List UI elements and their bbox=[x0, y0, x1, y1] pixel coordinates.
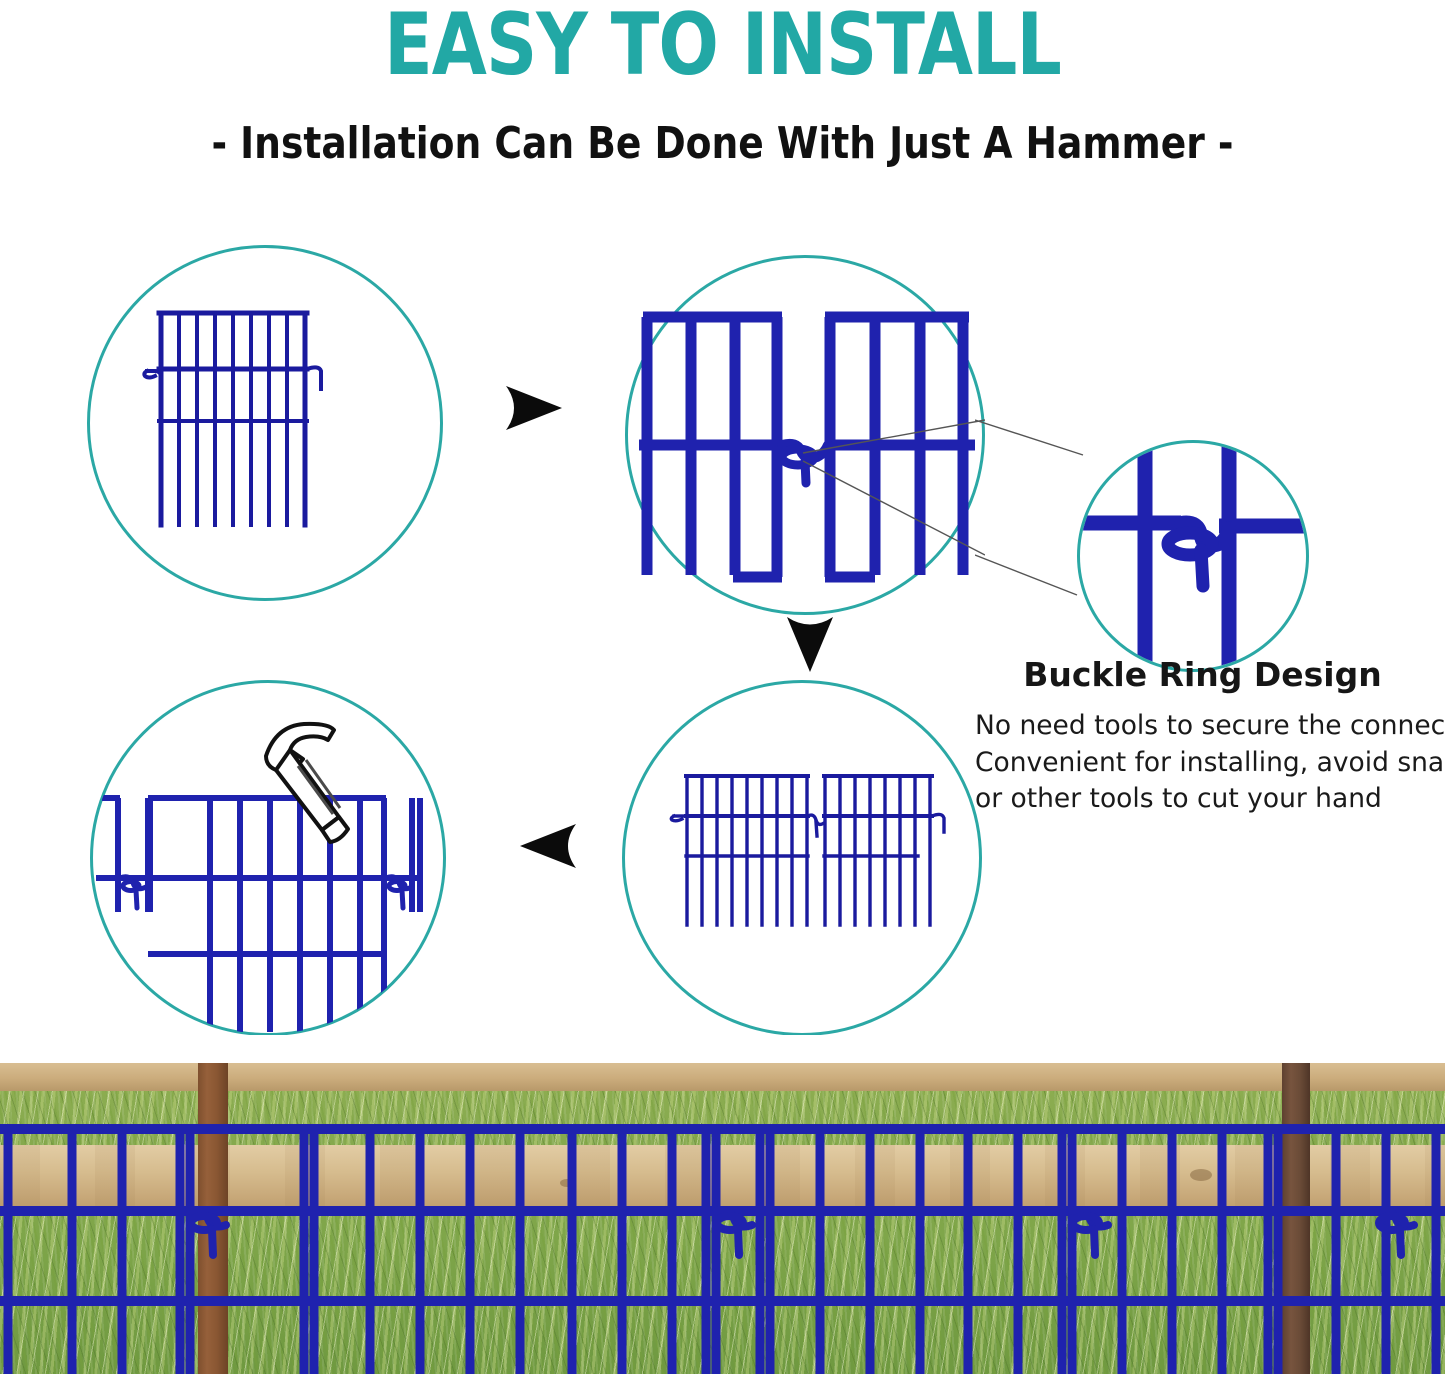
buckle-ring-joint-1 bbox=[190, 1210, 226, 1255]
step-5-circle bbox=[90, 680, 446, 1036]
buckle-ring-joint-3 bbox=[1072, 1210, 1108, 1255]
page-title: EASY TO INSTALL bbox=[58, 2, 1387, 88]
installed-fence-photo bbox=[0, 1063, 1445, 1374]
arrow-left-icon bbox=[512, 818, 582, 874]
feature-line-1: No need tools to secure the connection bbox=[975, 708, 1445, 745]
feature-line-2: Convenient for installing, avoid snaps bbox=[975, 745, 1445, 782]
photo-top-gap bbox=[0, 1035, 1445, 1063]
arrow-down-icon bbox=[782, 612, 842, 678]
feature-title: Buckle Ring Design bbox=[960, 655, 1445, 694]
blue-fence-overlay bbox=[0, 1063, 1445, 1374]
step-2-circle bbox=[625, 255, 985, 615]
page-subtitle: - Installation Can Be Done With Just A H… bbox=[36, 122, 1409, 166]
step-4-circle bbox=[622, 680, 982, 1036]
buckle-ring-joint-2 bbox=[716, 1210, 752, 1255]
step-1-circle bbox=[87, 245, 443, 601]
arrow-right-icon bbox=[500, 380, 570, 436]
feature-description: No need tools to secure the connection C… bbox=[975, 708, 1445, 818]
infographic-page: EASY TO INSTALL - Installation Can Be Do… bbox=[0, 0, 1445, 1374]
feature-line-3: or other tools to cut your hand bbox=[975, 781, 1445, 818]
buckle-ring-closeup-circle bbox=[1077, 440, 1309, 672]
